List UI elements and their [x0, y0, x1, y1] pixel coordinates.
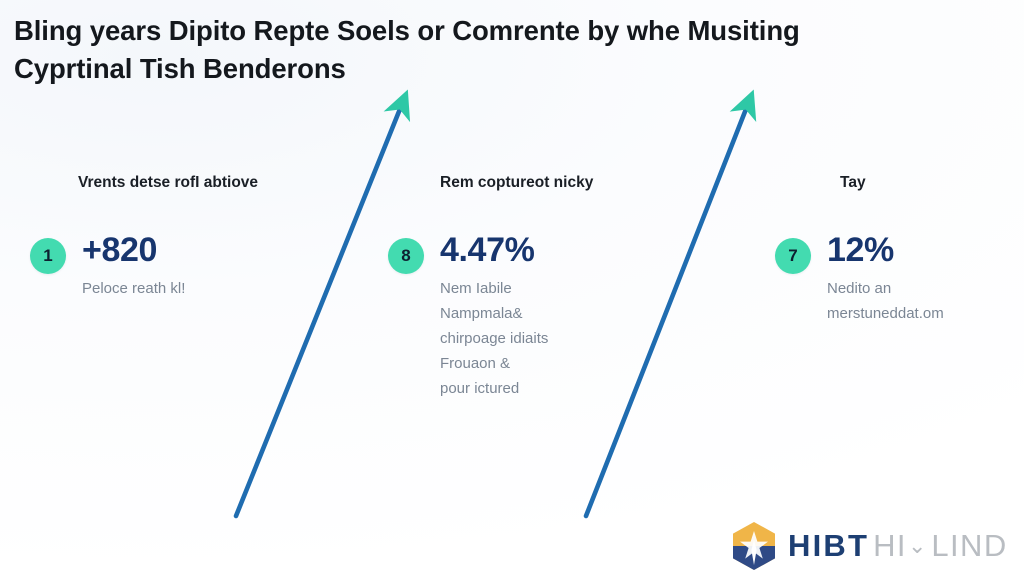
metric-label-3: Tay — [840, 172, 866, 193]
metric-description-1: Peloce reath kl! — [82, 276, 185, 301]
brand-logo: HIBT HI ⌄ LIND — [731, 521, 1008, 571]
metric-body-3: 7 12% Nedito an merstuneddat.om — [775, 230, 944, 326]
brand-wordmark: HIBT HI ⌄ LIND — [788, 528, 1008, 564]
metric-badge-1: 1 — [30, 238, 66, 274]
metric-body-1: 1 +820 Peloce reath kl! — [30, 230, 185, 301]
metric-description-3: Nedito an merstuneddat.om — [827, 276, 944, 326]
metric-text-2: 4.47% Nem Iabile Nampmala& chirpoage idi… — [440, 230, 548, 401]
metric-badge-3: 7 — [775, 238, 811, 274]
metric-badge-2: 8 — [388, 238, 424, 274]
metric-body-2: 8 4.47% Nem Iabile Nampmala& chirpoage i… — [388, 230, 548, 401]
infographic-canvas: Bling years Dipito Repte Soels or Comren… — [0, 0, 1024, 576]
hexagon-star-logo-icon — [731, 521, 777, 571]
page-title: Bling years Dipito Repte Soels or Comren… — [14, 12, 844, 88]
chevron-down-icon: ⌄ — [908, 533, 926, 559]
brand-name-secondary-a: HI — [873, 528, 907, 564]
metric-text-3: 12% Nedito an merstuneddat.om — [827, 230, 944, 326]
brand-name-primary: HIBT — [788, 528, 869, 564]
metric-description-2: Nem Iabile Nampmala& chirpoage idiaits F… — [440, 276, 548, 401]
metric-value-3: 12% — [827, 230, 944, 270]
growth-arrow-left-icon — [236, 104, 402, 516]
growth-arrow-right-icon — [586, 104, 748, 516]
metric-text-1: +820 Peloce reath kl! — [82, 230, 185, 301]
metric-value-2: 4.47% — [440, 230, 548, 270]
metric-label-1: Vrents detse rofI abtiove — [78, 172, 258, 193]
metric-label-2: Rem coptureot nicky — [440, 172, 593, 193]
metric-value-1: +820 — [82, 230, 185, 270]
brand-name-secondary-b: LIND — [931, 528, 1007, 564]
